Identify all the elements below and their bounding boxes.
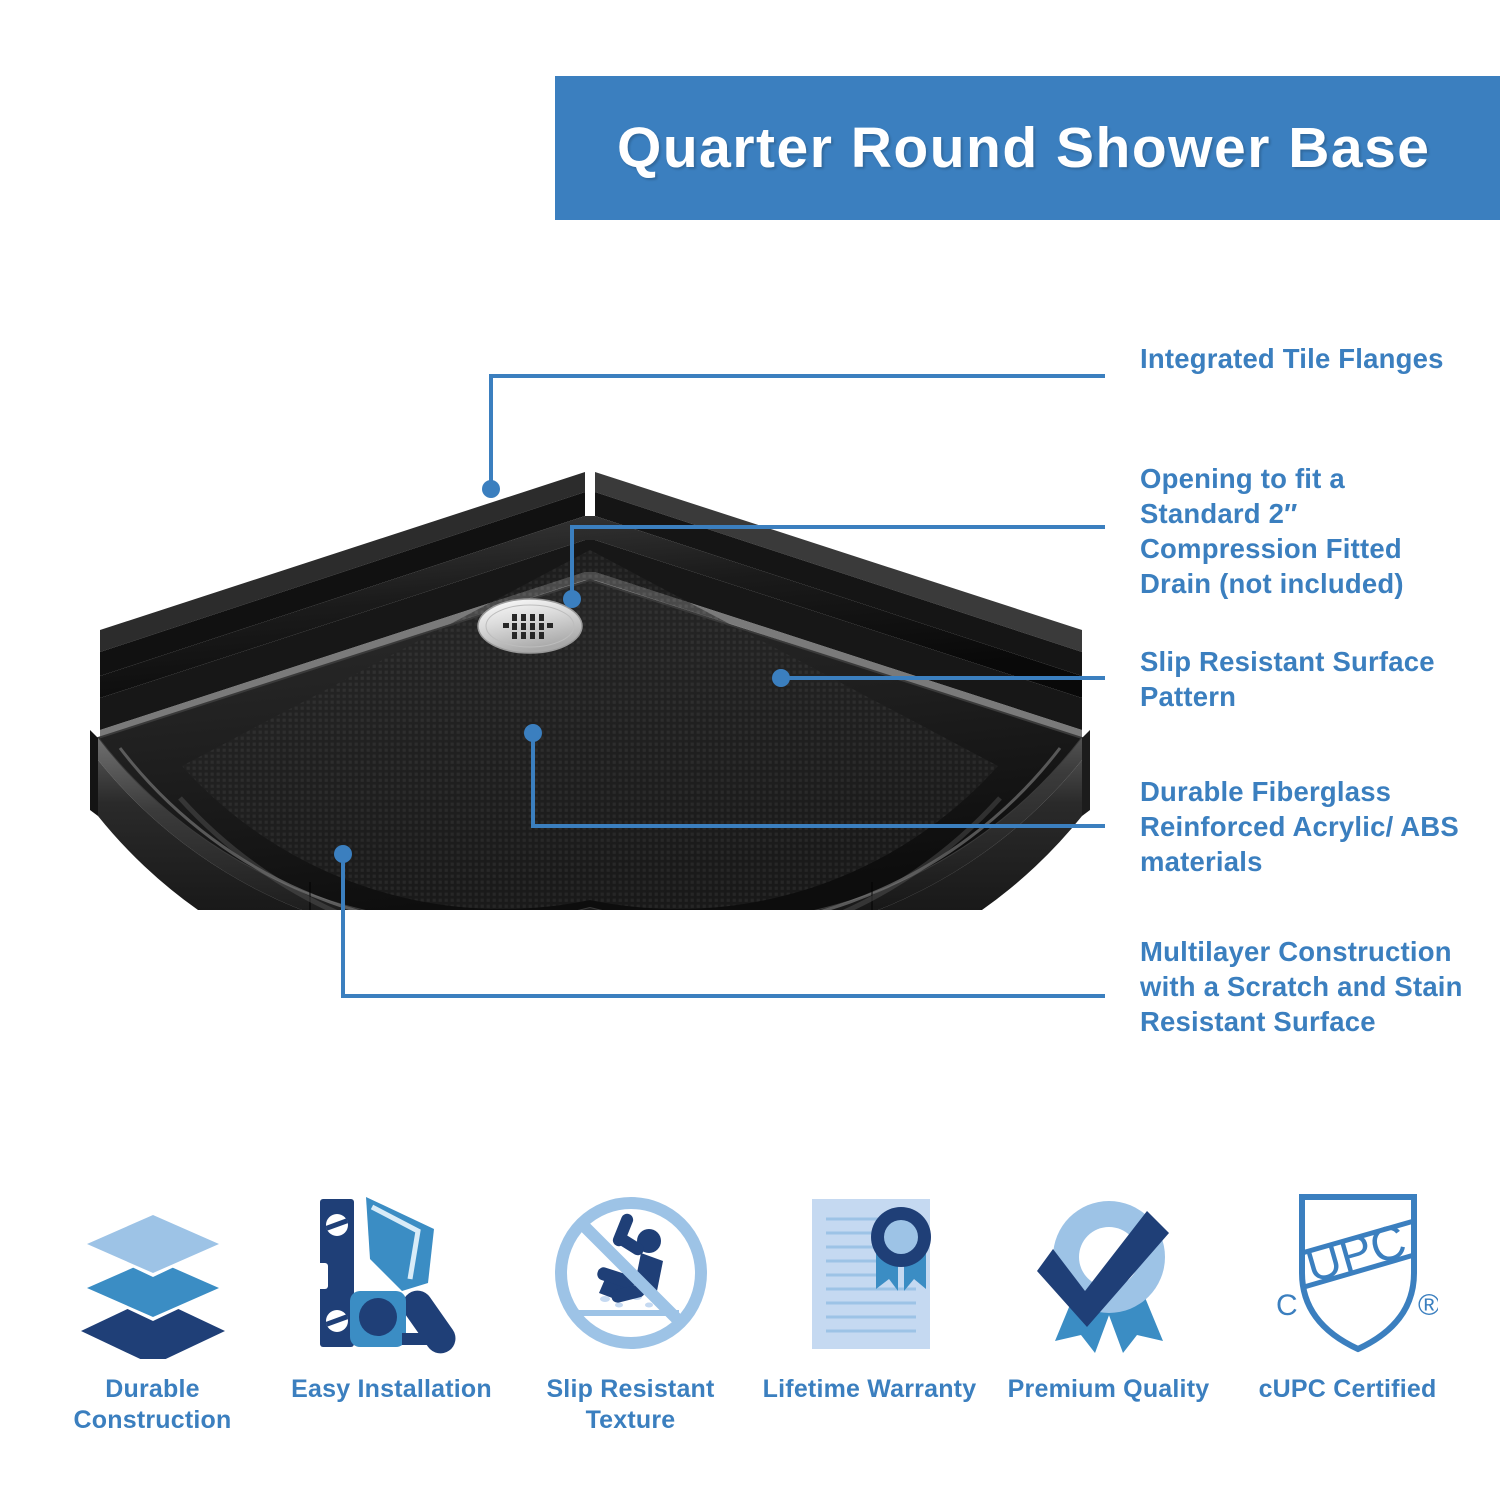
level-trowel-icon [306,1185,478,1360]
apron-end-right [1082,730,1090,816]
feature-lifetime-warranty: Lifetime Warranty [757,1185,982,1405]
drain-grate [478,599,582,653]
no-slip-icon [545,1185,717,1360]
feature-easy-installation: Easy Installation [279,1185,504,1405]
feature-label: Premium Quality [1008,1374,1210,1405]
feature-slip-resistant: Slip Resistant Texture [518,1185,743,1436]
feature-label: Slip Resistant Texture [518,1374,743,1436]
upc-shield-text: UPC [1299,1214,1411,1293]
callout-durable-materials: Durable Fiberglass Reinforced Acrylic/ A… [1140,775,1470,880]
callout-integrated-tile-flanges: Integrated Tile Flanges [1140,342,1470,377]
award-check-icon [1023,1185,1195,1360]
feature-label: Durable Construction [40,1374,265,1436]
feature-cupc-certified: UPC C ® cUPC Certified [1235,1185,1460,1405]
callout-slip-resistant-surface: Slip Resistant Surface Pattern [1140,645,1470,715]
upc-registered-mark: ® [1418,1289,1438,1322]
feature-label: cUPC Certified [1259,1374,1437,1405]
callout-drain-opening: Opening to fit a Standard 2″ Compression… [1140,462,1470,602]
feature-durable-construction: Durable Construction [40,1185,265,1436]
feature-label: Lifetime Warranty [763,1374,977,1405]
title-banner: Quarter Round Shower Base [555,76,1500,220]
layers-icon [67,1185,239,1360]
upc-shield-icon: UPC C ® [1258,1185,1438,1360]
infographic-canvas: Quarter Round Shower Base [0,0,1500,1500]
callout-multilayer-construction: Multilayer Construction with a Scratch a… [1140,935,1470,1040]
feature-strip: Durable Construction [40,1185,1460,1455]
certificate-icon [784,1185,956,1360]
feature-label: Easy Installation [291,1374,492,1405]
page-title: Quarter Round Shower Base [617,115,1431,181]
feature-premium-quality: Premium Quality [996,1185,1221,1405]
upc-c-mark: C [1276,1289,1298,1322]
product-illustration [60,430,1120,910]
apron-end-left [90,730,98,816]
